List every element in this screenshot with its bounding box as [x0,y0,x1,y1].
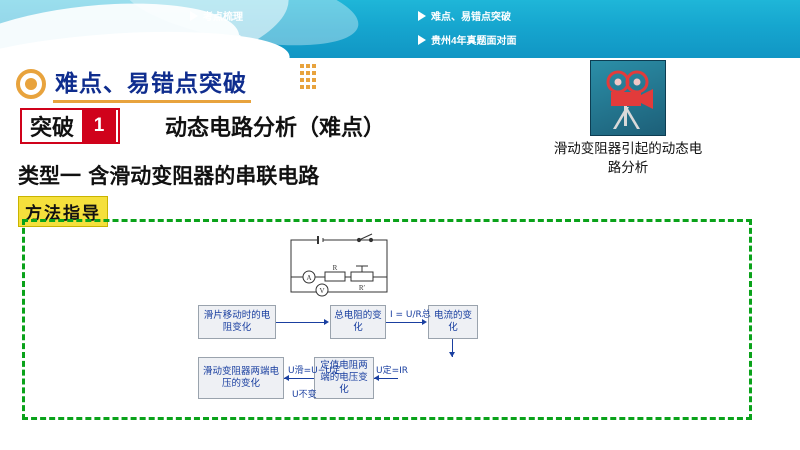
flow-box-4: 滑动变阻器两端电压的变化 [198,357,284,399]
page-title: 难点、易错点突破 [53,64,251,103]
top-banner: 考点梳理 难点、易错点突破 实验突破 贵州4年真题面对面 [0,0,800,58]
flow-chart: 滑片移动时的电阻变化 总电阻的变化 电流的变化 滑动变阻器两端电压的变化 定值电… [198,305,578,405]
movie-camera-icon [591,61,665,135]
flow-arrow-line [276,322,324,323]
flow-box-2: 总电阻的变化 [330,305,386,339]
flow-label-current-formula: I = U/R总 [390,307,431,320]
flow-label-u-fixed: U定=IR [376,363,408,376]
triangle-bullet-icon [190,35,198,45]
nav-item-nandian[interactable]: 难点、易错点突破 [418,8,511,23]
flow-box-1: 滑片移动时的电阻变化 [198,305,276,339]
flow-arrow-line [386,322,422,323]
nav-item-kaodian[interactable]: 考点梳理 [190,8,243,23]
triangle-bullet-icon [418,11,426,21]
triangle-bullet-icon [190,11,198,21]
svg-text:A: A [306,274,311,282]
ring-icon [16,69,46,99]
breakthrough-topic: 动态电路分析（难点） [165,110,385,142]
type-one-heading: 类型一 含滑动变阻器的串联电路 [18,160,319,190]
flow-arrow-head [324,319,329,325]
breakthrough-badge: 突破 1 [20,108,120,144]
ring-core-icon [25,78,37,90]
circuit-diagram: A R V R′ [285,232,395,302]
section-title-group: 难点、易错点突破 [16,64,251,103]
nav-item-label: 实验突破 [203,32,243,47]
video-thumbnail[interactable] [590,60,666,136]
breakthrough-word: 突破 [22,110,82,142]
flow-label-u-constant: U不变 [292,387,317,400]
svg-text:R′: R′ [359,284,366,292]
nav-item-label: 考点梳理 [203,8,243,23]
breakthrough-number: 1 [82,110,116,142]
nav-item-label: 难点、易错点突破 [431,8,511,23]
decor-dots [300,64,316,90]
svg-text:R: R [333,264,338,272]
nav-item-shiyan[interactable]: 实验突破 [190,32,243,47]
svg-text:V: V [319,287,324,295]
triangle-bullet-icon [418,35,426,45]
banner-nav: 考点梳理 难点、易错点突破 实验突破 贵州4年真题面对面 [180,5,800,53]
flow-label-u-rheostat: U滑=U−U定 [288,363,341,376]
nav-item-label: 贵州4年真题面对面 [431,32,517,47]
video-caption: 滑动变阻器引起的动态电路分析 [548,140,708,178]
flow-box-3: 电流的变化 [428,305,478,339]
nav-item-zhenti[interactable]: 贵州4年真题面对面 [418,32,517,47]
flow-arrow-head [449,352,455,357]
